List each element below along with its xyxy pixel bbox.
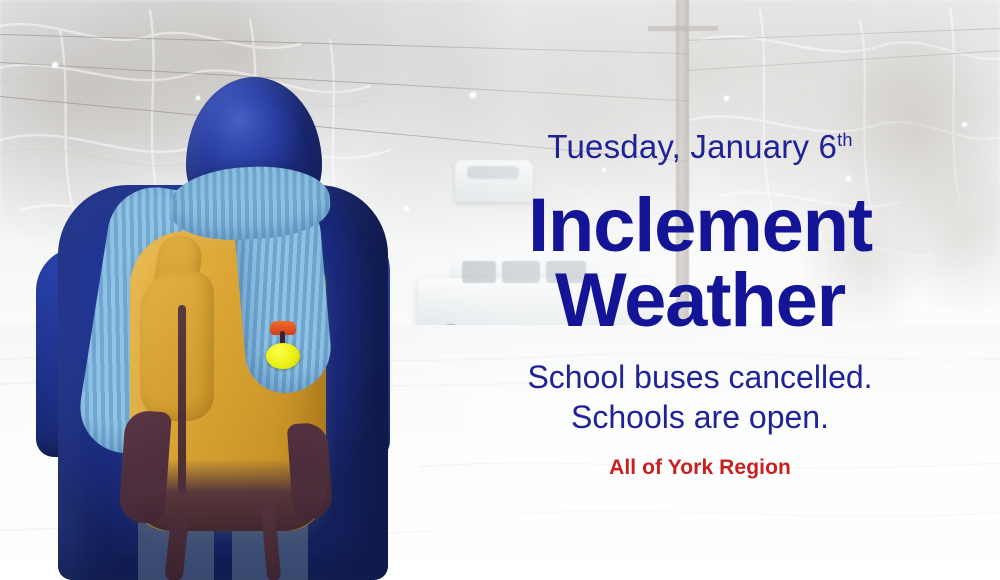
announcement-text-block: Tuesday, January 6th Inclement Weather S… (400, 0, 1000, 580)
child-with-backpack (18, 35, 418, 580)
subtitle-line-1: School buses cancelled. (400, 358, 1000, 398)
headline-line-1: Inclement (400, 190, 1000, 261)
region-label: All of York Region (400, 456, 1000, 480)
backpack-base-trim (130, 459, 326, 531)
headline-line-2: Weather (400, 265, 1000, 336)
date-ordinal-suffix: th (837, 130, 853, 150)
announcement-date: Tuesday, January 6th (400, 128, 1000, 166)
page-title: Inclement Weather (400, 190, 1000, 337)
date-text: Tuesday, January 6 (547, 128, 837, 165)
announcement-subtitle: School buses cancelled. Schools are open… (400, 358, 1000, 437)
backpack-front-pocket (140, 271, 214, 421)
subtitle-line-2: Schools are open. (400, 398, 1000, 438)
reflector-tag (266, 343, 300, 369)
inclement-weather-banner: Tuesday, January 6th Inclement Weather S… (0, 0, 1000, 580)
